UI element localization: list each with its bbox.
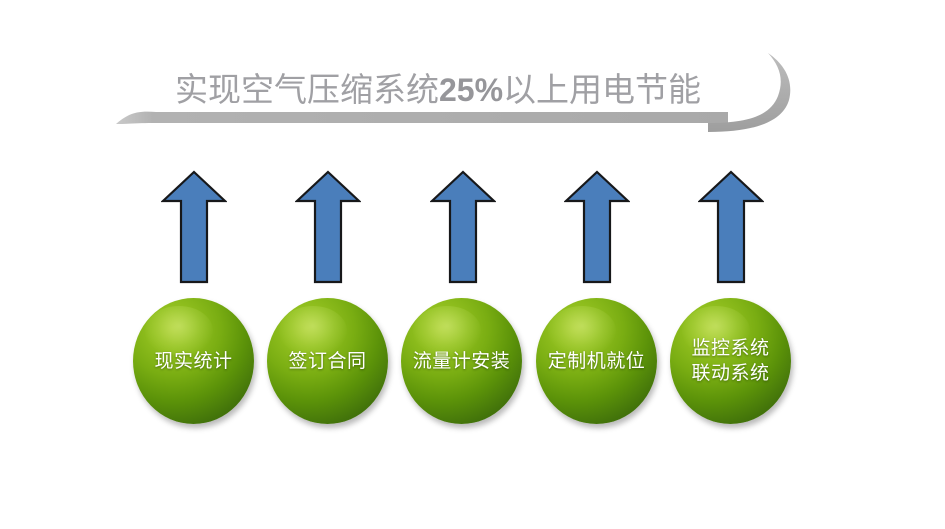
page-title: 实现空气压缩系统25%以上用电节能	[108, 70, 768, 110]
green-sphere-4	[536, 298, 657, 424]
arrow-row	[0, 168, 945, 288]
step-node-4[interactable]: 定制机就位	[536, 298, 657, 424]
green-sphere-2	[267, 298, 388, 424]
title-banner: 实现空气压缩系统25%以上用电节能	[108, 28, 798, 146]
step-node-2[interactable]: 签订合同	[267, 298, 388, 424]
title-percent: 25%	[439, 72, 503, 108]
step-circle-row: 现实统计 签订合同 流量计安装 定制机就位 监控系统 联动系统	[0, 298, 945, 428]
slide-canvas: 实现空气压缩系统25%以上用电节能	[0, 0, 945, 529]
step-node-3[interactable]: 流量计安装	[401, 298, 522, 424]
arrow-up-icon-2	[295, 168, 361, 286]
title-part-before: 实现空气压缩系统	[175, 70, 439, 109]
arrow-up-icon-1	[161, 168, 227, 286]
green-sphere-5	[670, 298, 791, 424]
title-part-after: 以上用电节能	[503, 70, 701, 109]
step-node-1[interactable]: 现实统计	[133, 298, 254, 424]
arrow-up-icon-4	[564, 168, 630, 286]
green-sphere-1	[133, 298, 254, 424]
arrow-up-icon-5	[698, 168, 764, 286]
green-sphere-3	[401, 298, 522, 424]
step-node-5[interactable]: 监控系统 联动系统	[670, 298, 791, 424]
arrow-up-icon-3	[430, 168, 496, 286]
